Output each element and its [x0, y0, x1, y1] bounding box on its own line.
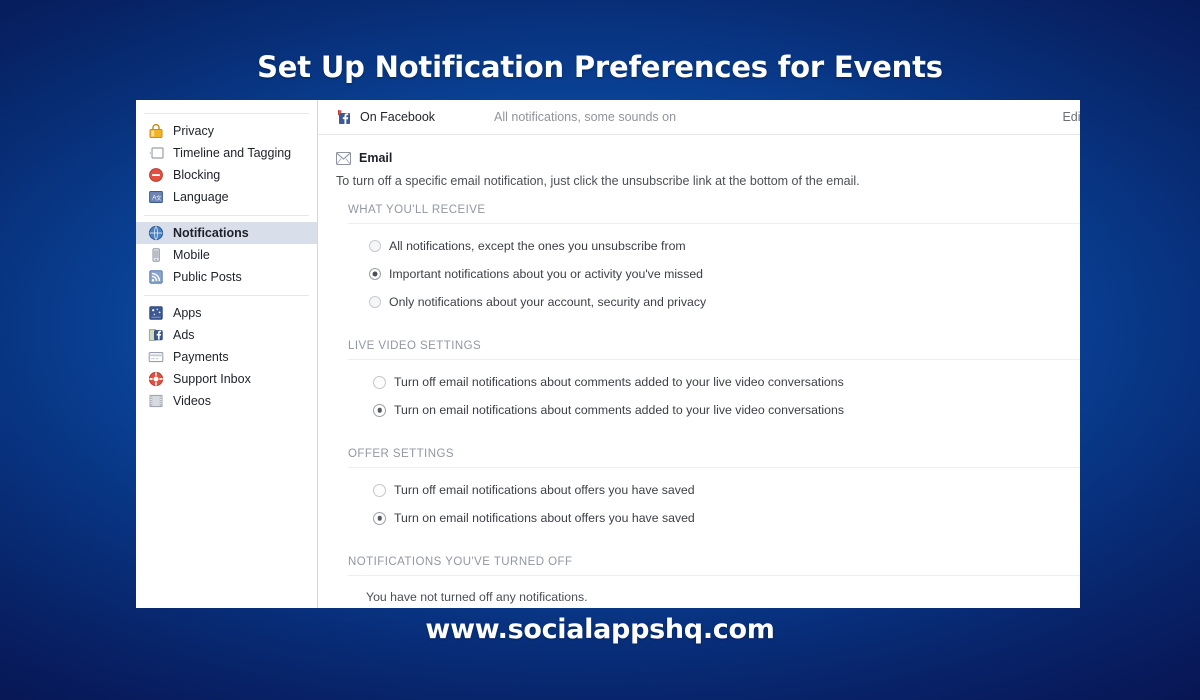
facebook-flag-icon	[336, 109, 352, 125]
sidebar-group: PrivacyTimeline and TaggingBlockingA文Lan…	[136, 114, 317, 215]
sidebar-item-timeline-and-tagging[interactable]: Timeline and Tagging	[136, 142, 317, 164]
sidebar-group-list: PrivacyTimeline and TaggingBlockingA文Lan…	[136, 114, 317, 419]
radio-group: All notifications, except the ones you u…	[318, 224, 1080, 324]
radio-unselected-icon[interactable]	[373, 376, 386, 389]
facebook-settings-screenshot: PrivacyTimeline and TaggingBlockingA文Lan…	[136, 100, 1080, 608]
radio-unselected-icon[interactable]	[369, 296, 381, 308]
radio-selected-icon[interactable]	[369, 268, 381, 280]
radio-option[interactable]: Turn off email notifications about offer…	[318, 476, 1080, 504]
sidebar-item-notifications[interactable]: Notifications	[136, 222, 317, 244]
support-icon	[148, 371, 164, 387]
payments-icon	[148, 349, 164, 365]
sidebar-item-label: Blocking	[173, 167, 220, 183]
email-header: Email	[336, 151, 1080, 165]
radio-selected-icon[interactable]	[373, 404, 386, 417]
page-footer: www.socialappshq.com	[0, 614, 1200, 645]
radio-option[interactable]: Only notifications about your account, s…	[318, 288, 1080, 316]
email-section: Email To turn off a specific email notif…	[318, 135, 1080, 188]
email-title: Email	[359, 151, 392, 165]
sidebar-group: NotificationsMobilePublic Posts	[136, 216, 317, 295]
sidebar-item-mobile[interactable]: Mobile	[136, 244, 317, 266]
radio-unselected-icon[interactable]	[369, 240, 381, 252]
radio-group: Turn off email notifications about comme…	[318, 360, 1080, 432]
sidebar-item-label: Support Inbox	[173, 371, 251, 387]
radio-option-label: Turn on email notifications about offers…	[394, 511, 695, 525]
on-facebook-status: All notifications, some sounds on	[494, 110, 676, 124]
svg-text:文: 文	[156, 194, 162, 202]
email-description: To turn off a specific email notificatio…	[336, 174, 1080, 188]
lock-icon	[148, 123, 164, 139]
radio-option[interactable]: All notifications, except the ones you u…	[318, 232, 1080, 260]
sidebar-item-ads[interactable]: Ads	[136, 324, 317, 346]
radio-option-label: Only notifications about your account, s…	[389, 295, 706, 309]
sidebar-item-payments[interactable]: Payments	[136, 346, 317, 368]
radio-option-label: Turn on email notifications about commen…	[394, 403, 844, 417]
section-heading: LIVE VIDEO SETTINGS	[318, 340, 1080, 352]
settings-sidebar: PrivacyTimeline and TaggingBlockingA文Lan…	[136, 100, 318, 608]
envelope-icon	[336, 152, 351, 165]
sidebar-item-label: Public Posts	[173, 269, 242, 285]
settings-section: OFFER SETTINGSTurn off email notificatio…	[318, 448, 1080, 540]
sidebar-item-support-inbox[interactable]: Support Inbox	[136, 368, 317, 390]
radio-option-label: Turn off email notifications about offer…	[394, 483, 695, 497]
sidebar-item-privacy[interactable]: Privacy	[136, 120, 317, 142]
section-heading: WHAT YOU'LL RECEIVE	[318, 204, 1080, 216]
radio-option[interactable]: Important notifications about you or act…	[318, 260, 1080, 288]
turned-off-section: NOTIFICATIONS YOU'VE TURNED OFF You have…	[318, 556, 1080, 604]
sidebar-item-label: Videos	[173, 393, 211, 409]
notifications-settings-panel: On Facebook All notifications, some soun…	[318, 100, 1080, 608]
ads-icon	[148, 327, 164, 343]
radio-option[interactable]: Turn on email notifications about offers…	[318, 504, 1080, 532]
radio-unselected-icon[interactable]	[373, 484, 386, 497]
radio-option[interactable]: Turn off email notifications about comme…	[318, 368, 1080, 396]
sidebar-item-label: Mobile	[173, 247, 210, 263]
notifications-icon	[148, 225, 164, 241]
sidebar-item-blocking[interactable]: Blocking	[136, 164, 317, 186]
sidebar-item-label: Notifications	[173, 225, 249, 241]
settings-section: LIVE VIDEO SETTINGSTurn off email notifi…	[318, 340, 1080, 432]
sidebar-item-label: Ads	[173, 327, 195, 343]
rss-icon	[148, 269, 164, 285]
radio-option-label: Turn off email notifications about comme…	[394, 375, 844, 389]
radio-option-label: All notifications, except the ones you u…	[389, 239, 686, 253]
settings-section: WHAT YOU'LL RECEIVEAll notifications, ex…	[318, 204, 1080, 324]
radio-option-label: Important notifications about you or act…	[389, 267, 703, 281]
edit-link[interactable]: Edit	[1062, 110, 1080, 124]
radio-selected-icon[interactable]	[373, 512, 386, 525]
turned-off-heading: NOTIFICATIONS YOU'VE TURNED OFF	[318, 556, 1080, 568]
sidebar-item-apps[interactable]: Apps	[136, 302, 317, 324]
mobile-icon	[148, 247, 164, 263]
radio-option[interactable]: Turn on email notifications about commen…	[318, 396, 1080, 424]
videos-icon	[148, 393, 164, 409]
page-title: Set Up Notification Preferences for Even…	[0, 50, 1200, 84]
sidebar-item-label: Payments	[173, 349, 229, 365]
sidebar-item-videos[interactable]: Videos	[136, 390, 317, 412]
section-heading: OFFER SETTINGS	[318, 448, 1080, 460]
sidebar-item-public-posts[interactable]: Public Posts	[136, 266, 317, 288]
sidebar-item-label: Language	[173, 189, 229, 205]
sidebar-item-label: Timeline and Tagging	[173, 145, 291, 161]
timeline-icon	[148, 145, 164, 161]
sidebar-group: AppsAdsPaymentsSupport InboxVideos	[136, 296, 317, 419]
turned-off-message: You have not turned off any notification…	[318, 576, 1080, 604]
on-facebook-row[interactable]: On Facebook All notifications, some soun…	[318, 100, 1080, 135]
on-facebook-title: On Facebook	[360, 110, 435, 124]
apps-icon	[148, 305, 164, 321]
language-icon: A文	[148, 189, 164, 205]
blocking-icon	[148, 167, 164, 183]
sidebar-item-label: Privacy	[173, 123, 214, 139]
sidebar-item-language[interactable]: A文Language	[136, 186, 317, 208]
radio-group: Turn off email notifications about offer…	[318, 468, 1080, 540]
settings-sections: WHAT YOU'LL RECEIVEAll notifications, ex…	[318, 204, 1080, 540]
sidebar-item-label: Apps	[173, 305, 202, 321]
